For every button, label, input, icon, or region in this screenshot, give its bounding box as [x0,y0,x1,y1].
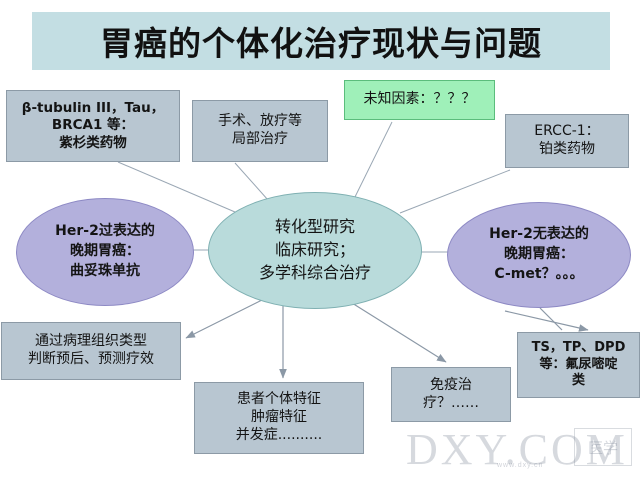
node-unknown-factor-label: 未知因素：？？？ [360,89,480,111]
slide-canvas: 胃癌的个体化治疗现状与问题 β-tubulin III，Tau， BRCA1 等… [0,0,640,480]
node-immunotherapy[interactable]: 免疫治 疗？…… [391,367,511,422]
node-center-translational-research[interactable]: 转化型研究 临床研究； 多学科综合治疗 [208,192,422,309]
node-local-therapy-label: 手术、放疗等 局部治疗 [214,111,306,151]
connector-center-to-ercc1 [400,170,510,213]
node-her2-negative[interactable]: Her-2无表达的 晚期胃癌： C-met？。。。 [447,202,631,308]
node-taxane[interactable]: β-tubulin III，Tau， BRCA1 等： 紫杉类药物 [6,90,180,162]
connector-her2neg-to-fluoro [540,308,562,330]
node-ercc1-label: ERCC-1： 铂类药物 [530,121,603,161]
watermark-badge: 医学 [574,428,632,466]
page-title: 胃癌的个体化治疗现状与问题 [100,17,542,65]
node-her2-negative-label: Her-2无表达的 晚期胃癌： C-met？。。。 [483,225,595,285]
node-taxane-label: β-tubulin III，Tau， BRCA1 等： 紫杉类药物 [18,98,168,154]
slide-title-band: 胃癌的个体化治疗现状与问题 [32,12,610,70]
node-pathology[interactable]: 通过病理组织类型 判断预后、预测疗效 [1,322,181,380]
node-unknown-factor[interactable]: 未知因素：？？？ [344,80,495,120]
node-her2-positive[interactable]: Her-2过表达的 晚期胃癌： 曲妥珠单抗 [16,198,194,306]
node-patient-features-label: 患者个体特征 肿瘤特征 并发症.......... [232,389,327,447]
watermark-text: DXY.COM [406,424,628,475]
connector-center-to-unknown [352,122,392,203]
node-immunotherapy-label: 免疫治 疗？…… [419,375,483,415]
node-local-therapy[interactable]: 手术、放疗等 局部治疗 [192,100,328,162]
connector-center-to-local [235,163,268,200]
node-pathology-label: 通过病理组织类型 判断预后、预测疗效 [24,331,158,371]
node-ercc1[interactable]: ERCC-1： 铂类药物 [505,114,629,168]
node-fluoropyrimidine-label: TS，TP、DPD 等：氟尿嘧啶 类 [528,338,630,392]
arrow-center-to-fluoro [505,311,588,330]
node-center-label: 转化型研究 临床研究； 多学科综合治疗 [253,216,377,284]
node-patient-features[interactable]: 患者个体特征 肿瘤特征 并发症.......... [194,382,364,454]
node-her2-positive-label: Her-2过表达的 晚期胃癌： 曲妥珠单抗 [49,222,161,282]
arrow-center-to-pathology [186,300,262,338]
arrow-center-to-immuno [352,303,446,362]
watermark-subtext: www.dxy.cn [497,462,543,469]
node-fluoropyrimidine[interactable]: TS，TP、DPD 等：氟尿嘧啶 类 [517,332,640,398]
